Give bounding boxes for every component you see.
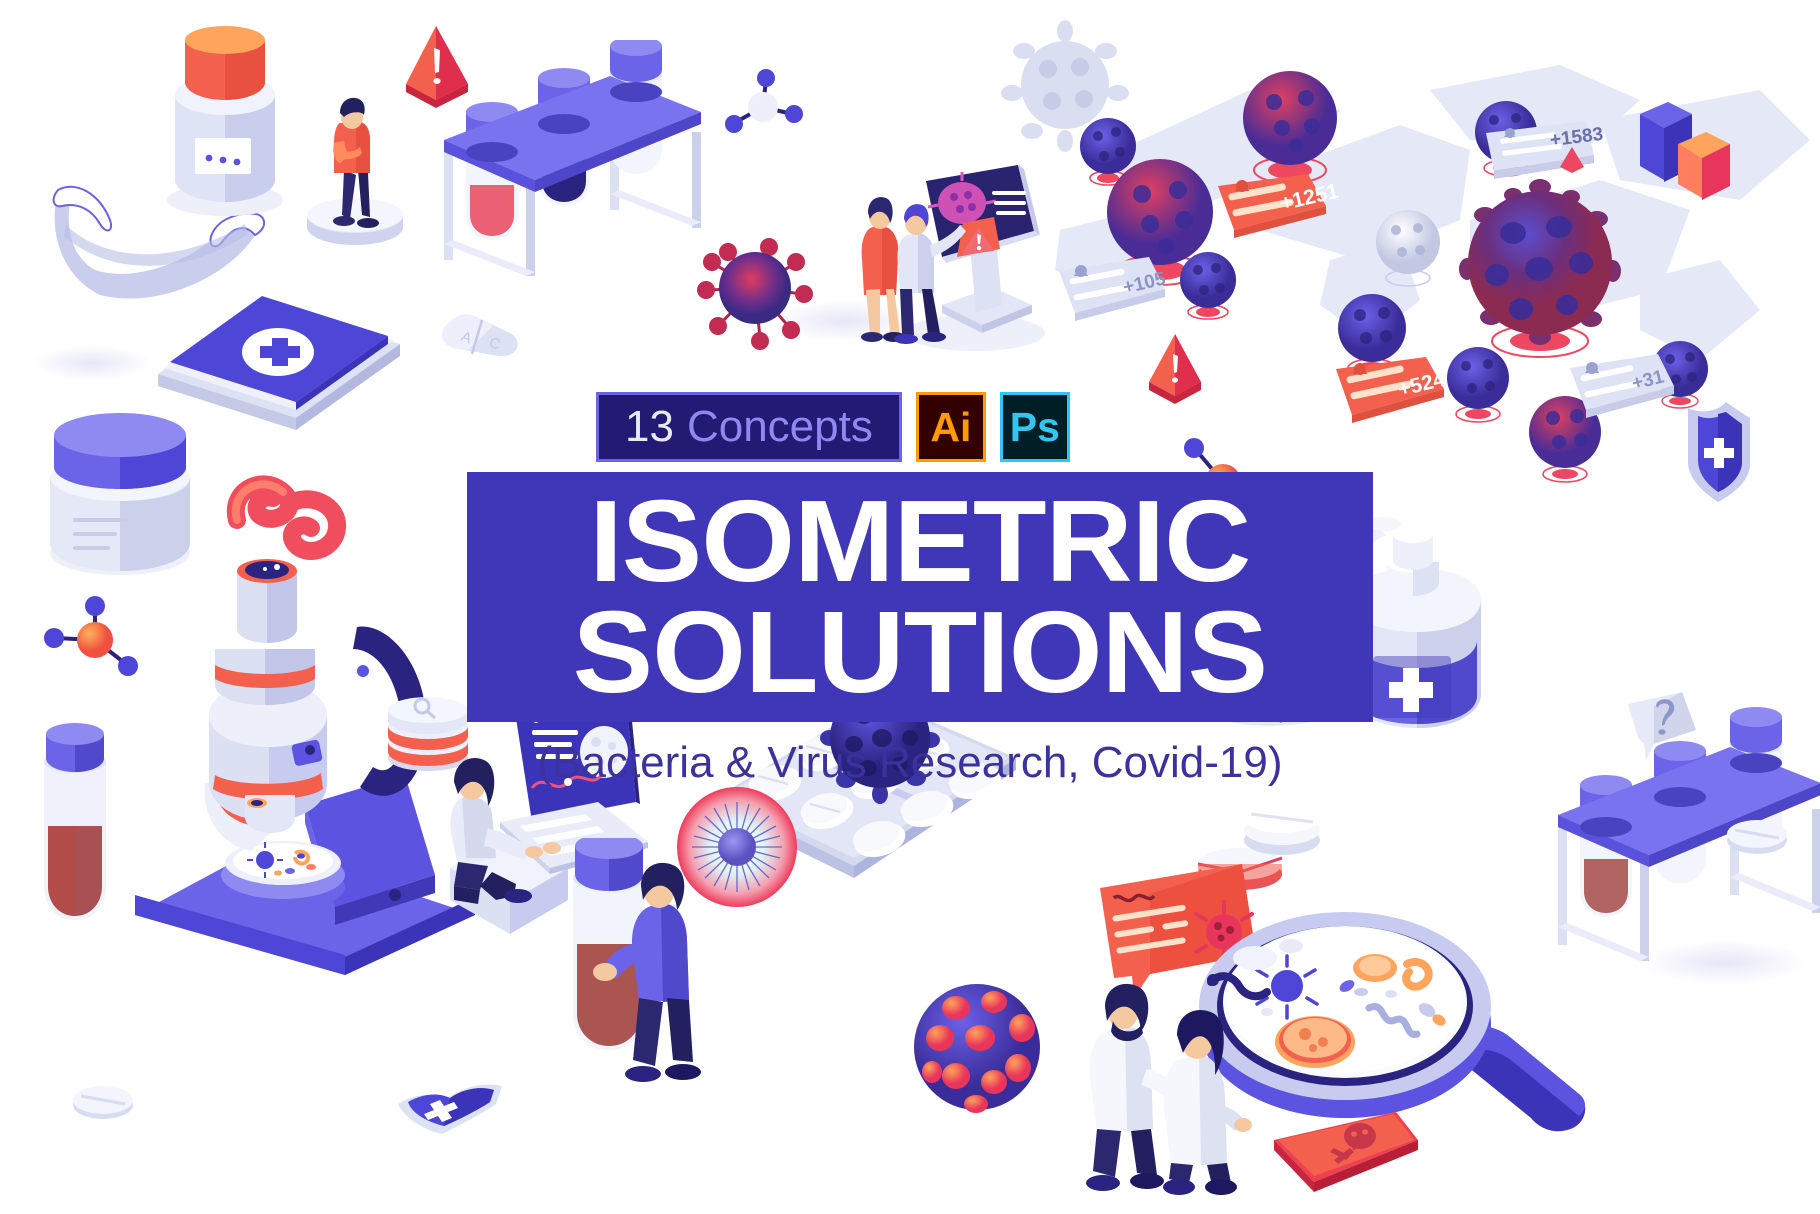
title-line-1: ISOMETRIC (590, 488, 1251, 595)
kiosk-couple (850, 165, 1080, 355)
soft-shadow-1 (32, 345, 152, 381)
tablet-loose-right (1722, 808, 1792, 860)
poison-triangle (1268, 1078, 1428, 1194)
card-pacific: +105 (1055, 255, 1170, 327)
concepts-word: Concepts (687, 402, 873, 452)
man-carrying-vial (555, 838, 715, 1108)
tablet-loose-left (68, 1075, 138, 1125)
corona-virus-large-map (1455, 175, 1625, 365)
pill-bottle (165, 20, 285, 230)
doctor-pair (1085, 965, 1285, 1195)
spotted-cell (910, 980, 1045, 1115)
subtitle: (Bacteria & Virus Research, Covid-19) (0, 738, 1820, 788)
adobe-photoshop-label: Ps (1010, 404, 1060, 451)
title-line-2: SOLUTIONS (573, 599, 1267, 706)
card-africa: +524 (1330, 355, 1450, 429)
poster-canvas: +1583 +1251 +105 (0, 0, 1820, 1214)
tablets-stack-right (1235, 792, 1330, 862)
adobe-illustrator-badge: Ai (916, 392, 986, 462)
adobe-illustrator-label: Ai (930, 404, 971, 451)
card-greenland: +1583 (1480, 115, 1600, 185)
test-tube-rack-left (430, 40, 720, 280)
title-block: ISOMETRIC SOLUTIONS (467, 472, 1373, 722)
card-north-america: +1251 (1212, 172, 1332, 244)
card-asia: +31 (1566, 352, 1678, 424)
bar-chart (1628, 80, 1748, 210)
badge-row: 13Concepts Ai Ps (596, 392, 1070, 462)
shield-cross (1668, 390, 1768, 510)
warning-triangle-map (1145, 330, 1205, 410)
molecule-top (718, 62, 808, 152)
concepts-badge: 13Concepts (596, 392, 902, 462)
standing-man (300, 75, 410, 255)
corona-virus-red (690, 228, 820, 363)
concepts-count: 13 (625, 402, 674, 452)
pill-capsule-ac: A C (432, 300, 532, 366)
adobe-photoshop-badge: Ps (1000, 392, 1070, 462)
shield-cross-small (390, 1060, 515, 1150)
